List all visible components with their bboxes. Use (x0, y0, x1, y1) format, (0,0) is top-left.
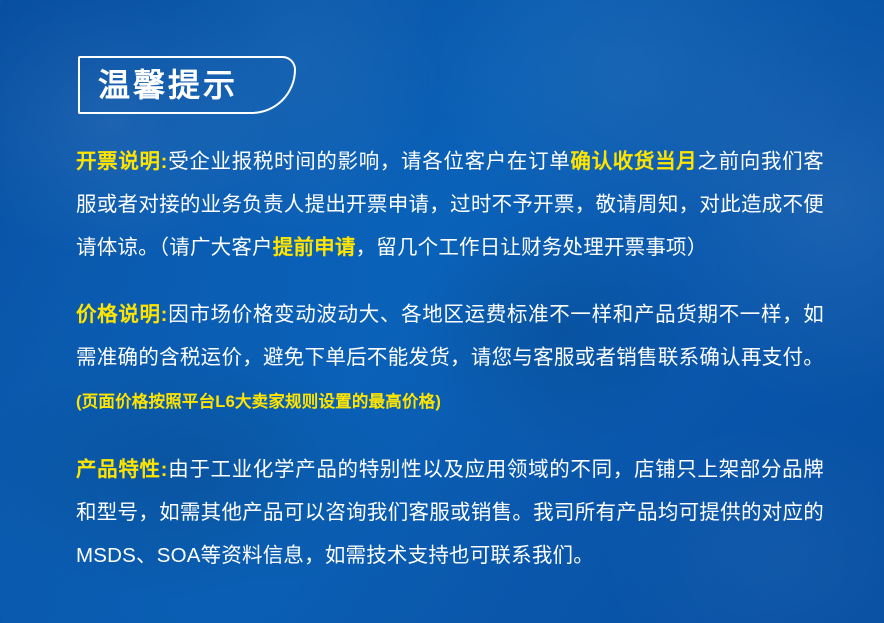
section-invoice-highlight-2: 提前申请 (273, 236, 356, 259)
section-invoice-text-1: 受企业报税时间的影响，请各位客户在订单 (168, 150, 571, 173)
section-invoice-lead: 开票说明: (76, 150, 168, 173)
section-invoice-highlight-1: 确认收货当月 (570, 150, 697, 173)
section-price-text-1: 因市场价格变动波动大、各地区运费标准不一样和产品货期不一样，如需准确的含税运价，… (76, 303, 824, 369)
section-product-lead: 产品特性: (76, 458, 168, 481)
section-product-text-1: 由于工业化学产品的特别性以及应用领域的不同，店铺只上架部分品牌和型号，如需其他产… (76, 458, 824, 567)
section-price-lead: 价格说明: (76, 303, 168, 326)
page-title: 温馨提示 (98, 69, 238, 101)
notice-body: 开票说明:受企业报税时间的影响，请各位客户在订单确认收货当月之前向我们客服或者对… (76, 140, 824, 577)
section-invoice-text-3: ，留几个工作日让财务处理开票事项） (356, 236, 708, 259)
section-price-note: (页面价格按照平台L6大卖家规则设置的最高价格) (76, 393, 441, 411)
section-invoice: 开票说明:受企业报税时间的影响，请各位客户在订单确认收货当月之前向我们客服或者对… (76, 140, 824, 269)
section-product: 产品特性:由于工业化学产品的特别性以及应用领域的不同，店铺只上架部分品牌和型号，… (76, 448, 824, 577)
banner-content: 温馨提示 开票说明:受企业报税时间的影响，请各位客户在订单确认收货当月之前向我们… (0, 0, 884, 623)
section-price: 价格说明:因市场价格变动波动大、各地区运费标准不一样和产品货期不一样，如需准确的… (76, 293, 824, 424)
promo-banner: 温馨提示 开票说明:受企业报税时间的影响，请各位客户在订单确认收货当月之前向我们… (0, 0, 884, 623)
title-badge: 温馨提示 (78, 56, 296, 114)
